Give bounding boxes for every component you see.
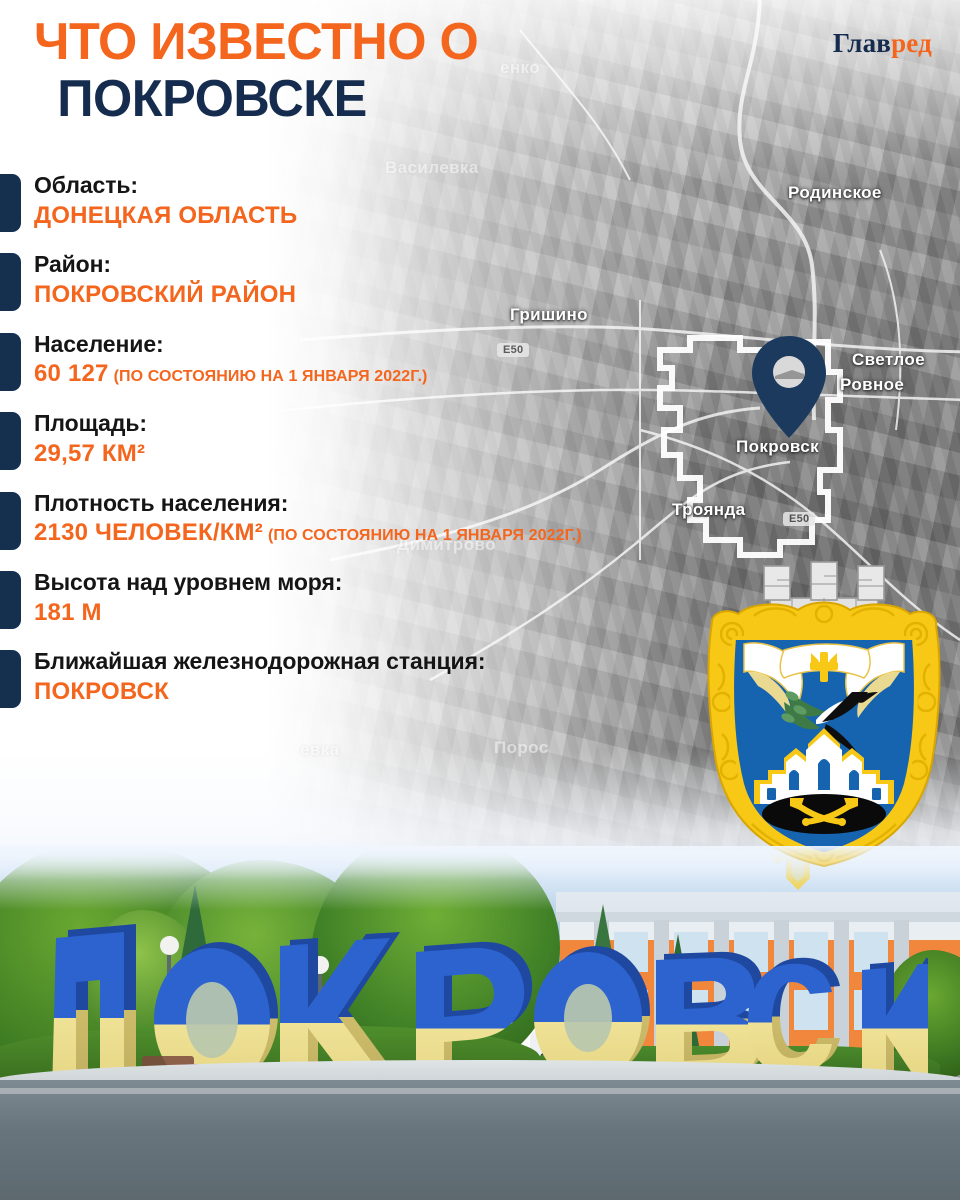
page-title: ЧТО ИЗВЕСТНО О ПОКРОВСКЕ — [34, 16, 654, 126]
bullet-marker — [0, 174, 21, 232]
fact-row: Высота над уровнем моря:181 М — [0, 569, 740, 627]
infographic-root: ВасилевкаРодинскоеГришиноСветлоеРовноеПо… — [0, 0, 960, 1200]
fact-label: Высота над уровнем моря: — [34, 569, 740, 597]
city-photo — [0, 850, 960, 1200]
fact-value: ПОКРОВСКИЙ РАЙОН — [34, 281, 296, 308]
coat-of-arms-icon — [692, 552, 956, 870]
photo-seam-blend — [0, 846, 960, 880]
map-label-4: Ровное — [840, 375, 904, 395]
fact-row: Район:ПОКРОВСКИЙ РАЙОН — [0, 251, 740, 309]
fact-row: Население:60 127(ПО СОСТОЯНИЮ НА 1 ЯНВАР… — [0, 331, 740, 389]
fact-value: 60 127 — [34, 360, 109, 387]
bullet-marker — [0, 650, 21, 708]
photo-ground — [0, 1080, 960, 1200]
plinth-highlight — [0, 1088, 960, 1094]
letter-S1 — [748, 958, 840, 1075]
title-line-1: ЧТО ИЗВЕСТНО О — [34, 16, 635, 69]
bullet-marker — [0, 333, 21, 391]
fact-label: Население: — [34, 331, 740, 359]
bullet-marker — [0, 492, 21, 550]
fact-value: 181 М — [34, 599, 102, 626]
logo-part-red: ред — [891, 28, 932, 58]
fact-note: (ПО СОСТОЯНИЮ НА 1 ЯНВАРЯ 2022Г.) — [114, 368, 428, 385]
fact-label: Плотность населения: — [34, 490, 740, 518]
fact-value-line: ДОНЕЦКАЯ ОБЛАСТЬ — [34, 202, 740, 231]
fact-value-line: ПОКРОВСКИЙ РАЙОН — [34, 281, 740, 310]
title-line-2: ПОКРОВСКЕ — [34, 73, 635, 126]
fact-value-line: 29,57 КМ² — [34, 440, 740, 469]
fact-note: (ПО СОСТОЯНИЮ НА 1 ЯНВАРЯ 2022Г.) — [268, 527, 582, 544]
fact-value-line: ПОКРОВСК — [34, 678, 740, 707]
fact-value-line: 2130 ЧЕЛОВЕК/КМ²(ПО СОСТОЯНИЮ НА 1 ЯНВАР… — [34, 519, 740, 548]
bullet-marker — [0, 571, 21, 629]
map-label-3: Светлое — [852, 350, 925, 370]
glavred-logo[interactable]: Главред — [833, 28, 932, 59]
road-badge-1: E50 — [783, 512, 815, 526]
bullet-marker — [0, 412, 21, 470]
fact-label: Ближайшая железнодорожная станция: — [34, 648, 740, 676]
map-pin-icon — [748, 332, 830, 442]
fact-list: Область:ДОНЕЦКАЯ ОБЛАСТЬРайон:ПОКРОВСКИЙ… — [0, 172, 740, 728]
fact-row: Ближайшая железнодорожная станция:ПОКРОВ… — [0, 648, 740, 706]
letter-K2 — [862, 958, 928, 1086]
fact-value: 29,57 КМ² — [34, 440, 145, 467]
fact-row: Площадь:29,57 КМ² — [0, 410, 740, 468]
fact-value: ПОКРОВСК — [34, 678, 169, 705]
fact-label: Площадь: — [34, 410, 740, 438]
fact-row: Плотность населения:2130 ЧЕЛОВЕК/КМ²(ПО … — [0, 490, 740, 548]
fact-value-line: 181 М — [34, 599, 740, 628]
fact-label: Область: — [34, 172, 740, 200]
crossed-hammers-icon — [762, 794, 886, 834]
fact-value: 2130 ЧЕЛОВЕК/КМ² — [34, 519, 263, 546]
fact-value-line: 60 127(ПО СОСТОЯНИЮ НА 1 ЯНВАРЯ 2022Г.) — [34, 360, 740, 389]
fact-row: Область:ДОНЕЦКАЯ ОБЛАСТЬ — [0, 172, 740, 230]
fact-value: ДОНЕЦКАЯ ОБЛАСТЬ — [34, 202, 297, 229]
fact-label: Район: — [34, 251, 740, 279]
bullet-marker — [0, 253, 21, 311]
map-label-1: Родинское — [788, 183, 882, 203]
logo-part-glav: Глав — [833, 28, 891, 58]
